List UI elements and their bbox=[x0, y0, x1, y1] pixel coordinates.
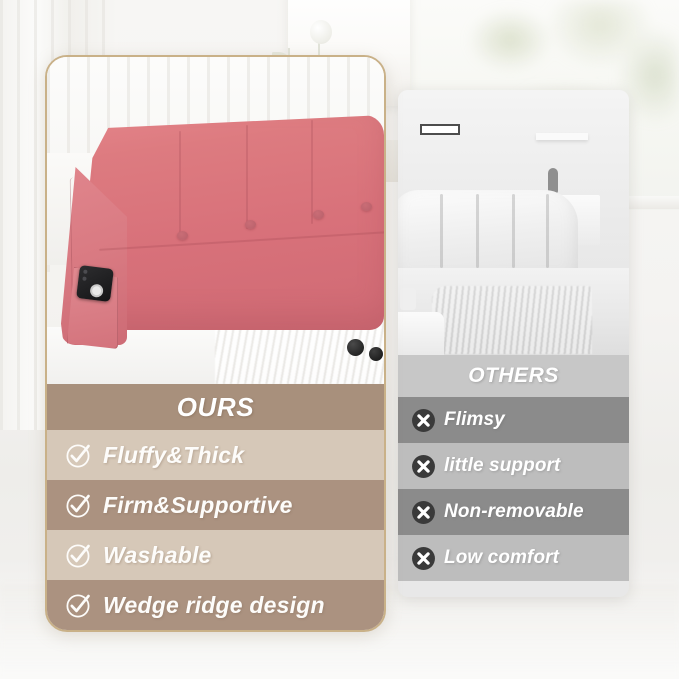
x-circle-icon bbox=[411, 500, 436, 525]
check-circle-icon bbox=[65, 492, 92, 519]
pillow-vertical-seam bbox=[179, 131, 181, 235]
x-circle-icon bbox=[411, 546, 436, 571]
others-list-item: Flimsy bbox=[398, 397, 629, 443]
others-header-band: OTHERS bbox=[398, 355, 629, 397]
others-comparison-card: OTHERS Flimsy little support bbox=[398, 90, 629, 597]
ours-header-band: OURS bbox=[47, 384, 384, 430]
pillow-tuft bbox=[440, 194, 443, 268]
pillow-button bbox=[245, 220, 256, 229]
ours-feature-list: OURS Fluffy&Thick Firm&Supportive bbox=[47, 384, 384, 630]
photo-dark-knob bbox=[369, 347, 383, 361]
ours-title: OURS bbox=[177, 392, 255, 423]
ours-list-item: Wedge ridge design bbox=[47, 580, 384, 630]
pillow-button bbox=[361, 202, 372, 211]
phone-camera-icon bbox=[82, 276, 86, 280]
pillow-button bbox=[313, 210, 324, 219]
others-list-item-label: Non-removable bbox=[444, 501, 584, 523]
others-list-item: Non-removable bbox=[398, 489, 629, 535]
phone-camera-icon bbox=[83, 270, 87, 274]
pillow-vertical-seam bbox=[311, 120, 313, 224]
ours-list-item-label: Washable bbox=[103, 542, 212, 569]
ours-comparison-card: OURS Fluffy&Thick Firm&Supportive bbox=[45, 55, 386, 632]
ours-list-item: Firm&Supportive bbox=[47, 480, 384, 530]
ours-product-photo bbox=[47, 57, 384, 384]
phone-in-pocket bbox=[76, 265, 114, 302]
x-circle-icon bbox=[411, 408, 436, 433]
others-list-item: Low comfort bbox=[398, 535, 629, 581]
others-product-photo bbox=[398, 90, 629, 355]
others-feature-list: OTHERS Flimsy little support bbox=[398, 355, 629, 581]
others-photo-side-table bbox=[398, 312, 444, 355]
pillow-tuft bbox=[512, 194, 515, 268]
others-list-item-label: Low comfort bbox=[444, 547, 559, 569]
check-circle-icon bbox=[65, 442, 92, 469]
pillow-tuft bbox=[476, 194, 479, 268]
others-list-item-label: Flimsy bbox=[444, 409, 505, 431]
check-circle-icon bbox=[65, 542, 92, 569]
others-list-item: little support bbox=[398, 443, 629, 489]
check-circle-icon bbox=[65, 592, 92, 619]
others-photo-shelf bbox=[536, 133, 588, 140]
ours-list-item: Fluffy&Thick bbox=[47, 430, 384, 480]
pillow-tuft bbox=[546, 194, 549, 268]
others-photo-throw-blanket bbox=[432, 286, 592, 354]
ours-list-item-label: Wedge ridge design bbox=[103, 592, 325, 619]
ours-list-item-label: Fluffy&Thick bbox=[103, 442, 244, 469]
ours-list-item-label: Firm&Supportive bbox=[103, 492, 293, 519]
ours-list-item: Washable bbox=[47, 530, 384, 580]
others-title: OTHERS bbox=[468, 364, 559, 388]
phone-lens-ring bbox=[89, 284, 103, 298]
others-list-item-label: little support bbox=[444, 455, 560, 477]
pillow-button bbox=[177, 231, 188, 240]
others-photo-picture-frame bbox=[420, 124, 460, 135]
coral-wedge-pillow bbox=[61, 115, 384, 355]
photo-dark-knob bbox=[347, 339, 364, 356]
pillow-vertical-seam bbox=[246, 125, 248, 229]
others-photo-small-lamp bbox=[400, 288, 416, 310]
x-circle-icon bbox=[411, 454, 436, 479]
